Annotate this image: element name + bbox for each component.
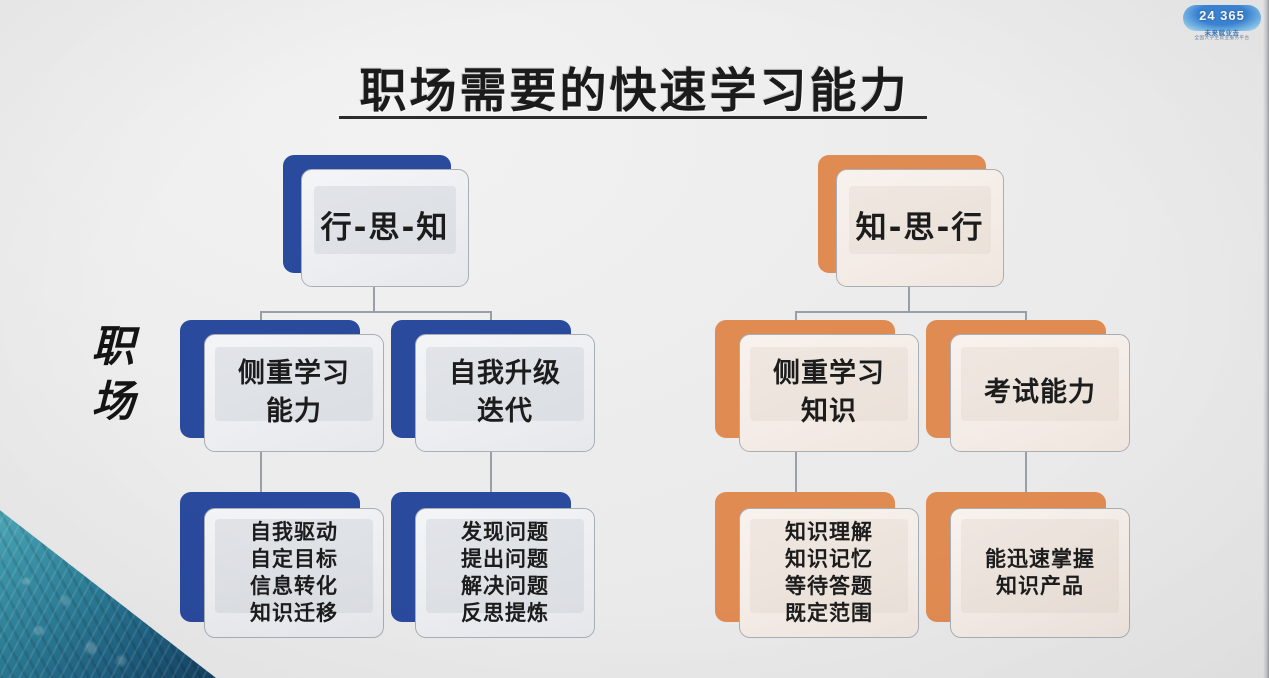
- watermark-text: 24 365: [1183, 8, 1261, 23]
- node-card: 知识理解 知识记忆 等待答题 既定范围: [739, 508, 919, 638]
- node-right-root[interactable]: 知-思-行: [818, 155, 1004, 287]
- node-label: 能迅速掌握 知识产品: [985, 546, 1095, 600]
- connector-right-root-bar: [795, 311, 1027, 313]
- node-right-child-2[interactable]: 考试能力: [926, 320, 1130, 452]
- connector-left-root-bar: [260, 311, 492, 313]
- node-label: 知-思-行: [856, 208, 985, 248]
- node-label: 知识理解 知识记忆 等待答题 既定范围: [785, 519, 873, 627]
- node-right-leaf-2[interactable]: 能迅速掌握 知识产品: [926, 492, 1130, 638]
- side-label-workplace: 职 场: [78, 320, 148, 430]
- node-left-leaf-1[interactable]: 自我驱动 自定目标 信息转化 知识迁移: [180, 492, 384, 638]
- node-right-leaf-1[interactable]: 知识理解 知识记忆 等待答题 既定范围: [715, 492, 919, 638]
- node-label: 自我驱动 自定目标 信息转化 知识迁移: [250, 519, 338, 627]
- node-left-leaf-2[interactable]: 发现问题 提出问题 解决问题 反思提炼: [391, 492, 595, 638]
- connector-right-root-stem: [908, 287, 910, 313]
- node-card: 发现问题 提出问题 解决问题 反思提炼: [415, 508, 595, 638]
- node-card: 侧重学习 能力: [204, 334, 384, 452]
- node-right-child-1[interactable]: 侧重学习 知识: [715, 320, 919, 452]
- node-left-child-2[interactable]: 自我升级 迭代: [391, 320, 595, 452]
- node-label: 侧重学习 知识: [773, 355, 885, 431]
- node-card: 行-思-知: [301, 169, 469, 287]
- node-card: 考试能力: [950, 334, 1130, 452]
- watermark-subtitle-small: 全国大学生就业服务平台: [1183, 35, 1261, 41]
- node-label: 自我升级 迭代: [449, 355, 561, 431]
- node-card: 自我驱动 自定目标 信息转化 知识迁移: [204, 508, 384, 638]
- node-card: 知-思-行: [836, 169, 1004, 287]
- connector-right-leaf-2: [1025, 452, 1027, 494]
- node-card: 能迅速掌握 知识产品: [950, 508, 1130, 638]
- title-underline: [339, 116, 927, 119]
- node-label: 侧重学习 能力: [238, 355, 350, 431]
- node-card: 自我升级 迭代: [415, 334, 595, 452]
- watermark-logo: 24 365 未来就业去 全国大学生就业服务平台: [1183, 3, 1261, 43]
- node-label: 行-思-知: [321, 208, 450, 248]
- slide-canvas: 24 365 未来就业去 全国大学生就业服务平台 职场需要的快速学习能力 职 场…: [0, 0, 1269, 678]
- node-label: 发现问题 提出问题 解决问题 反思提炼: [461, 519, 549, 627]
- node-left-root[interactable]: 行-思-知: [283, 155, 469, 287]
- connector-right-leaf-1: [795, 452, 797, 494]
- connector-left-leaf-2: [490, 452, 492, 494]
- connector-left-leaf-1: [260, 452, 262, 494]
- node-left-child-1[interactable]: 侧重学习 能力: [180, 320, 384, 452]
- connector-left-root-stem: [373, 287, 375, 313]
- page-title: 职场需要的快速学习能力: [0, 52, 1269, 121]
- node-label: 考试能力: [984, 374, 1096, 412]
- node-card: 侧重学习 知识: [739, 334, 919, 452]
